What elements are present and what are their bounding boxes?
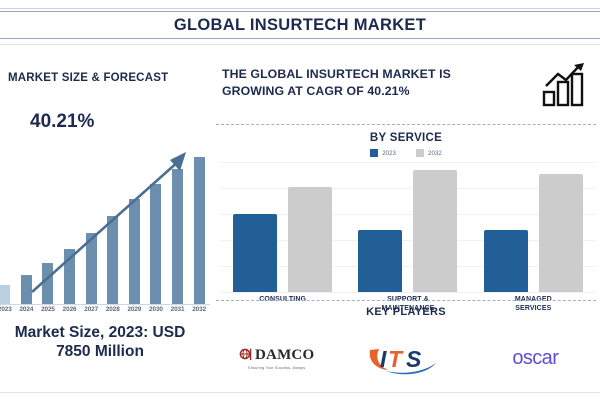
left-chart-year-label: 2031: [167, 306, 189, 313]
by-service-bar: [358, 230, 402, 292]
by-service-bar-groups: [220, 162, 596, 292]
key-players-logos: DAMCO Ensuring Your Success, Always I T …: [212, 328, 600, 388]
left-chart-bar-cell: [37, 263, 59, 304]
chart-gridline: [220, 292, 596, 293]
logo-oscar-name: oscar: [512, 347, 558, 370]
page-bottom-rule: [0, 392, 600, 393]
market-size-footnote-line1: Market Size, 2023: USD: [0, 324, 208, 343]
logo-damco-name: DAMCO: [255, 347, 314, 364]
left-chart-bar-cell: [124, 199, 146, 304]
key-players-title: KEY PLAYERS: [212, 306, 600, 318]
market-size-forecast-heading: MARKET SIZE & FORECAST: [8, 72, 168, 84]
left-chart-bar: [172, 169, 183, 304]
left-chart-bar: [150, 184, 161, 304]
left-chart-bar-cell: [16, 275, 38, 304]
bar-chart-growth-icon: [542, 62, 586, 108]
left-chart-bars: [0, 144, 210, 304]
svg-text:S: S: [406, 346, 422, 372]
left-chart-year-label: 2029: [124, 306, 146, 313]
left-chart-year-label: 2026: [59, 306, 81, 313]
globe-icon: [239, 348, 253, 362]
header-top-rule: [0, 8, 600, 9]
legend-swatch: [416, 149, 424, 157]
by-service-bar-group: [345, 162, 470, 292]
left-chart-bar-cell: [0, 285, 16, 304]
left-chart-bar: [21, 275, 32, 304]
left-chart-bar-cell: [188, 157, 210, 304]
logo-damco[interactable]: DAMCO Ensuring Your Success, Always: [212, 347, 341, 370]
infographic-page: GLOBAL INSURTECH MARKET MARKET SIZE & FO…: [0, 0, 600, 400]
right-panel: THE GLOBAL INSURTECH MARKET IS GROWING A…: [212, 52, 600, 400]
left-chart-bar: [64, 249, 75, 304]
legend-swatch: [370, 149, 378, 157]
left-chart-bar-cell: [59, 249, 81, 304]
left-chart-year-label: 2028: [102, 306, 124, 313]
legend-label: 2032: [428, 150, 442, 157]
by-service-bar: [413, 170, 457, 292]
by-service-bar-group: [220, 162, 345, 292]
legend-label: 2023: [382, 150, 396, 157]
left-chart-bar: [86, 233, 97, 304]
by-service-title: BY SERVICE: [212, 132, 600, 144]
cagr-callout: 40.21%: [30, 111, 94, 133]
left-chart-year-label: 2023: [0, 306, 16, 313]
left-chart-bar-cell: [80, 233, 102, 304]
left-chart-year-label: 2024: [16, 306, 38, 313]
header-band: GLOBAL INSURTECH MARKET: [0, 11, 600, 39]
left-chart-year-label: 2025: [37, 306, 59, 313]
logo-its[interactable]: I T S ITS: [341, 341, 470, 375]
left-chart-year-label: 2027: [80, 306, 102, 313]
logo-damco-tagline: Ensuring Your Success, Always: [248, 365, 305, 370]
left-chart-year-labels: 2023202420252026202720282029203020312032: [0, 306, 210, 313]
svg-text:T: T: [388, 346, 404, 372]
left-chart-bar: [129, 199, 140, 304]
left-chart-bar: [194, 157, 205, 304]
section-divider-bottom: [216, 300, 596, 301]
market-size-footnote: Market Size, 2023: USD 7850 Million: [0, 324, 208, 362]
growth-headline: THE GLOBAL INSURTECH MARKET IS GROWING A…: [222, 66, 512, 101]
market-size-footnote-line2: 7850 Million: [0, 343, 208, 362]
left-chart-year-label: 2032: [188, 306, 210, 313]
left-panel: MARKET SIZE & FORECAST 40.21% 2023202420…: [0, 52, 210, 400]
legend-item[interactable]: 2032: [416, 149, 442, 157]
by-service-bar: [233, 214, 277, 292]
left-chart-year-label: 2030: [145, 306, 167, 313]
by-service-legend: 20232032: [212, 149, 600, 157]
page-title: GLOBAL INSURTECH MARKET: [174, 16, 426, 35]
left-chart-bar-cell: [102, 216, 124, 304]
market-forecast-bar-chart: [0, 144, 210, 304]
section-divider-top: [216, 124, 596, 125]
left-chart-bar-cell: [145, 184, 167, 304]
its-swoosh-icon: I T S: [366, 341, 446, 375]
left-chart-bar-cell: [167, 169, 189, 304]
by-service-bar: [288, 187, 332, 292]
header-bottom-rule: [0, 44, 600, 45]
by-service-bar: [484, 230, 528, 292]
by-service-bar-group: [471, 162, 596, 292]
left-chart-bar: [42, 263, 53, 304]
logo-oscar[interactable]: oscar: [471, 347, 600, 370]
left-chart-bar: [107, 216, 118, 304]
by-service-bar-chart: [220, 162, 596, 292]
legend-item[interactable]: 2023: [370, 149, 396, 157]
svg-text:I: I: [380, 346, 387, 372]
left-chart-bar: [0, 285, 10, 304]
by-service-bar: [539, 174, 583, 292]
left-chart-axis: [0, 304, 210, 305]
